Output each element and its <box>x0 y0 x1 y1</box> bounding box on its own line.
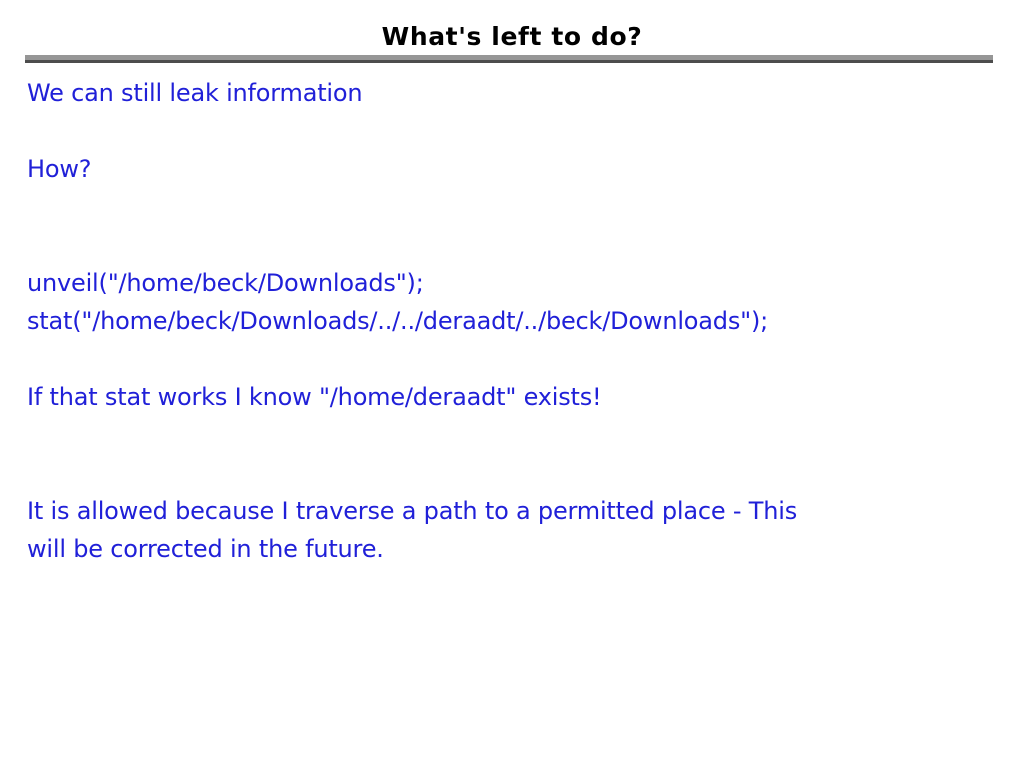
body-line <box>27 188 987 226</box>
body-line: If that stat works I know "/home/deraadt… <box>27 378 987 416</box>
body-line: We can still leak information <box>27 74 987 112</box>
body-line <box>27 416 987 454</box>
body-line: will be corrected in the future. <box>27 530 987 568</box>
slide-canvas: What's left to do? We can still leak inf… <box>0 0 1024 768</box>
slide-body: We can still leak information How? unvei… <box>27 74 987 568</box>
page-title: What's left to do? <box>0 22 1024 52</box>
body-line: unveil("/home/beck/Downloads"); <box>27 264 987 302</box>
title-divider <box>25 55 993 63</box>
body-line <box>27 112 987 150</box>
body-line: It is allowed because I traverse a path … <box>27 492 987 530</box>
body-line <box>27 454 987 492</box>
body-line: How? <box>27 150 987 188</box>
body-line <box>27 340 987 378</box>
body-line: stat("/home/beck/Downloads/../../deraadt… <box>27 302 987 340</box>
body-line <box>27 226 987 264</box>
